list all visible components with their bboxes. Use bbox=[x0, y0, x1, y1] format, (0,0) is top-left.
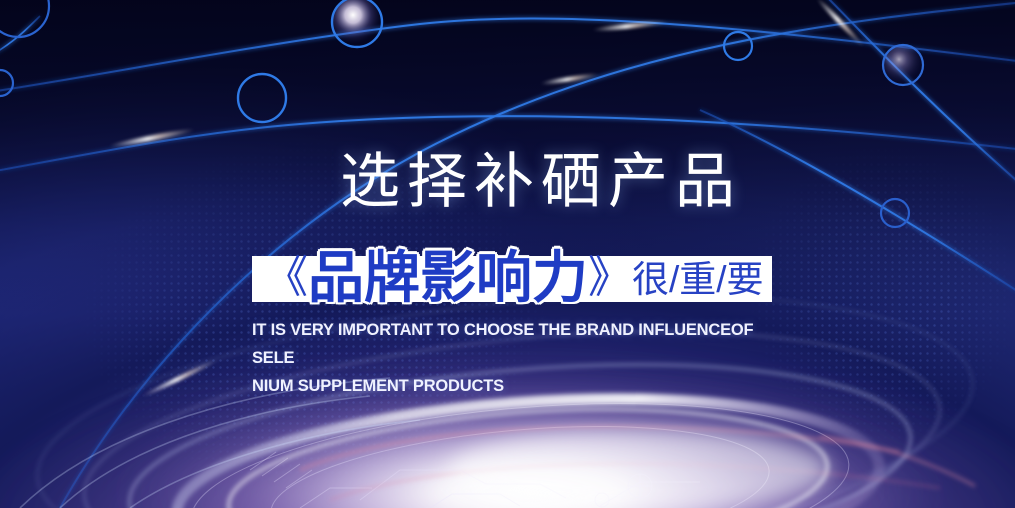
bracket-close: 》 bbox=[588, 255, 632, 301]
subtitle-english: IT IS VERY IMPORTANT TO CHOOSE THE BRAND… bbox=[252, 316, 797, 400]
headline-block: 选择补硒产品 《 品牌影响力 》 很/重/要 IT IS VERY IMPORT… bbox=[252, 148, 812, 216]
subtitle-line-2: NIUM SUPPLEMENT PRODUCTS bbox=[252, 372, 797, 400]
brand-keyword: 品牌影响力 bbox=[308, 250, 588, 306]
hero-banner: 选择补硒产品 《 品牌影响力 》 很/重/要 IT IS VERY IMPORT… bbox=[0, 0, 1015, 508]
page-title: 选择补硒产品 bbox=[252, 148, 812, 216]
bracket-open: 《 bbox=[264, 255, 308, 301]
emphasis-suffix: 很/重/要 bbox=[632, 260, 764, 300]
subtitle-line-1: IT IS VERY IMPORTANT TO CHOOSE THE BRAND… bbox=[252, 316, 797, 372]
brand-title-row: 《 品牌影响力 》 很/重/要 bbox=[252, 240, 772, 302]
